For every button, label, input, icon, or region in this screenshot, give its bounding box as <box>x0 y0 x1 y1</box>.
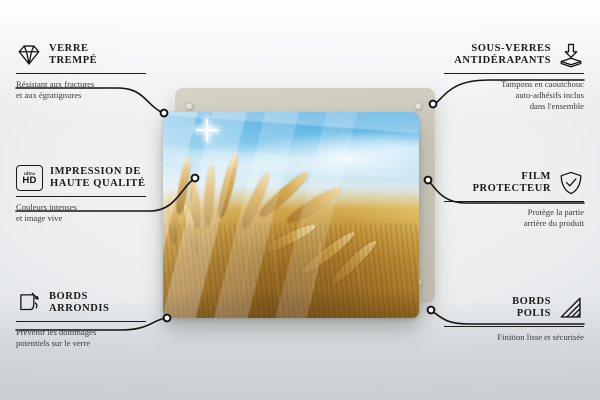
feature-header: BORDS POLIS <box>444 295 584 321</box>
feature-divider <box>16 196 146 197</box>
feature-anti-slip-pads: SOUS-VERRES ANTIDÉRAPANTS Tampons en cao… <box>444 42 584 112</box>
connector-dot-glass-top-left <box>161 110 168 117</box>
feature-divider <box>444 73 584 74</box>
feature-description: Tampons en caoutchouc auto-adhésifs incl… <box>444 79 584 112</box>
feature-title: SOUS-VERRES ANTIDÉRAPANTS <box>454 43 551 68</box>
feature-high-quality-print: ultra HD IMPRESSION DE HAUTE QUALITÉ Cou… <box>16 165 146 224</box>
feature-description: Finition lisse et sécurisée <box>444 332 584 343</box>
infographic-canvas: VERRE TREMPÉ Résistant aux fractures et … <box>0 0 600 400</box>
connector-dot-glass-bottom-left <box>164 315 171 322</box>
feature-divider <box>444 326 584 327</box>
feature-description: Résistant aux fractures et aux égratignu… <box>16 79 146 101</box>
feature-header: VERRE TREMPÉ <box>16 42 146 68</box>
ultra-hd-badge-icon: ultra HD <box>16 165 43 191</box>
feature-rounded-edges: BORDS ARRONDIS Prévenir les dommages pot… <box>16 290 146 349</box>
feature-header: ultra HD IMPRESSION DE HAUTE QUALITÉ <box>16 165 146 191</box>
feature-header: FILM PROTECTEUR <box>444 170 584 196</box>
feature-title: FILM PROTECTEUR <box>473 171 551 196</box>
feature-description: Protège la partie arrière du produit <box>444 207 584 229</box>
pad-arrow-down-icon <box>558 42 584 68</box>
feature-divider <box>16 321 146 322</box>
feature-protective-film: FILM PROTECTEUR Protège la partie arrièr… <box>444 170 584 229</box>
connector-dot-glass-middle-left <box>192 175 199 182</box>
connector-dot-board-top-right <box>430 101 437 108</box>
feature-header: SOUS-VERRES ANTIDÉRAPANTS <box>444 42 584 68</box>
feature-divider <box>444 201 584 202</box>
feature-tempered-glass: VERRE TREMPÉ Résistant aux fractures et … <box>16 42 146 101</box>
hatched-edge-icon <box>558 295 584 321</box>
shield-check-icon <box>558 170 584 196</box>
feature-description: Prévenir les dommages potentiels sur le … <box>16 327 146 349</box>
feature-header: BORDS ARRONDIS <box>16 290 146 316</box>
feature-title: BORDS POLIS <box>512 296 551 321</box>
feature-divider <box>16 73 146 74</box>
diamond-icon <box>16 42 42 68</box>
feature-title: BORDS ARRONDIS <box>49 291 109 316</box>
connector-dot-board-bottom-right <box>428 307 435 314</box>
connector-dot-board-middle-right <box>425 177 432 184</box>
rounded-corner-icon <box>16 290 42 316</box>
feature-description: Couleurs intenses et image vive <box>16 202 146 224</box>
feature-polished-edges: BORDS POLIS Finition lisse et sécurisée <box>444 295 584 343</box>
ultra-hd-badge-main-text: HD <box>22 176 36 186</box>
feature-title: VERRE TREMPÉ <box>49 43 97 68</box>
feature-title: IMPRESSION DE HAUTE QUALITÉ <box>50 166 146 191</box>
